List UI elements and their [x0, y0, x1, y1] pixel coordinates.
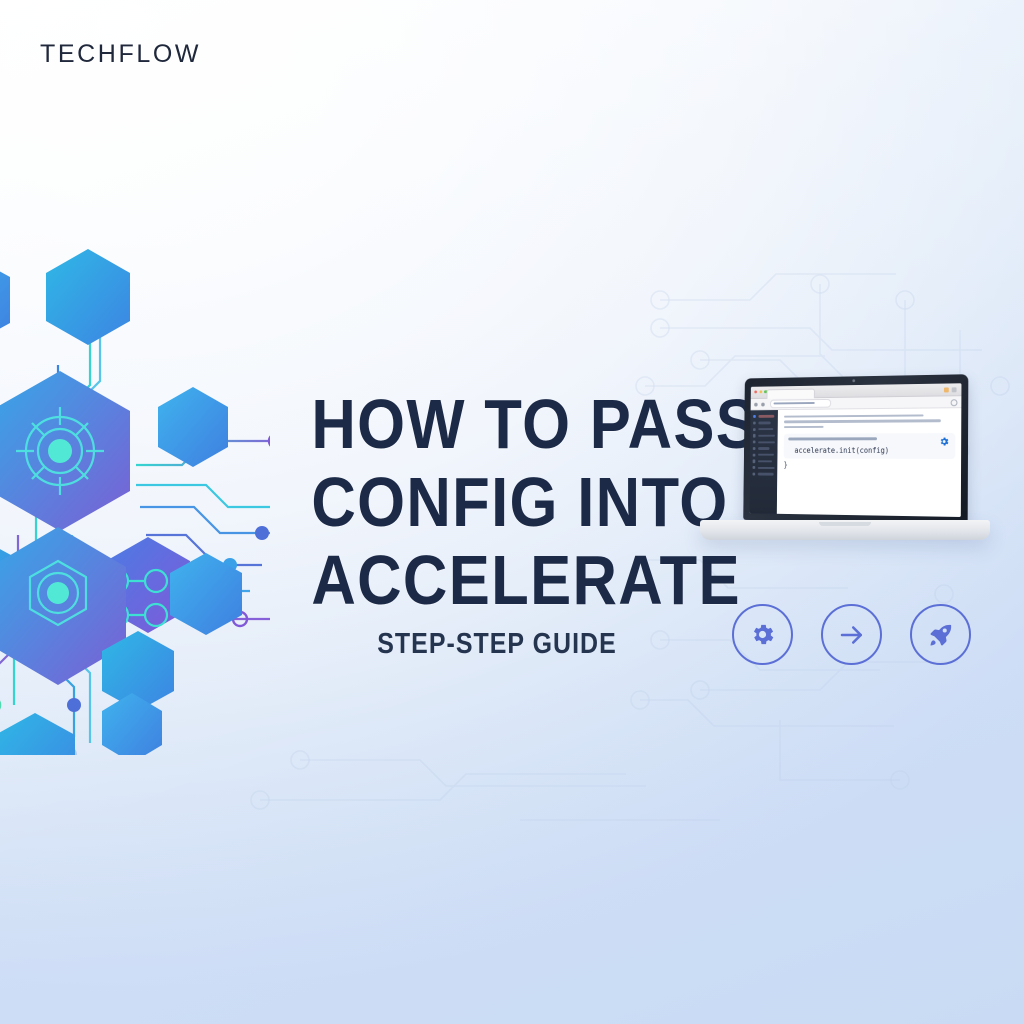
- browser-nav-buttons[interactable]: [754, 402, 765, 406]
- headline-line-3: ACCELERATE: [311, 541, 682, 619]
- sidebar-item-icon: [753, 434, 756, 437]
- content-line: [784, 426, 824, 429]
- sidebar-item[interactable]: [753, 447, 775, 450]
- sidebar-item[interactable]: [753, 428, 775, 431]
- code-line: accelerate.init(config): [788, 446, 950, 455]
- sidebar-item-label: [758, 467, 775, 469]
- sidebar-item-icon: [753, 421, 756, 424]
- code-block: accelerate.init(config): [784, 433, 956, 459]
- sidebar-item-icon: [753, 447, 756, 450]
- sidebar-item[interactable]: [753, 460, 775, 463]
- profile-icon[interactable]: [952, 387, 957, 392]
- laptop-mockup: accelerate.init(config) }: [700, 368, 990, 568]
- code-block-header: [788, 437, 877, 440]
- sidebar-item-icon: [753, 428, 756, 431]
- gear-icon: [749, 621, 776, 648]
- sidebar-item-label: [758, 422, 770, 424]
- arrow-right-icon-button[interactable]: [821, 604, 882, 665]
- sidebar-item-label: [757, 473, 773, 475]
- sidebar-item-label: [758, 454, 774, 456]
- traffic-lights: [754, 390, 767, 393]
- sidebar-item-icon: [753, 441, 756, 444]
- app-viewport: accelerate.init(config) }: [749, 408, 961, 517]
- browser-address-bar: [751, 396, 962, 410]
- laptop-notch: [819, 522, 871, 526]
- gear-icon[interactable]: [939, 436, 950, 447]
- close-icon[interactable]: [754, 390, 757, 393]
- laptop-screen: accelerate.init(config) }: [749, 383, 961, 517]
- headline-line-2: CONFIG INTO: [311, 463, 682, 541]
- laptop-base: [700, 520, 990, 540]
- app-sidebar: [749, 410, 777, 515]
- sidebar-item[interactable]: [753, 453, 775, 456]
- browser-settings-icon[interactable]: [951, 399, 958, 406]
- sidebar-item-icon: [753, 466, 756, 469]
- content-paragraph: [784, 414, 956, 428]
- sidebar-item-label: [758, 447, 769, 449]
- browser-toolbar-right: [944, 387, 957, 392]
- arrow-right-icon: [837, 620, 867, 650]
- subtitle: STEP-STEP GUIDE: [316, 628, 679, 661]
- sidebar-item[interactable]: [753, 415, 775, 418]
- app-content: accelerate.init(config) }: [777, 408, 962, 517]
- hexagon-circuit-decoration: [0, 235, 270, 755]
- headline-line-1: HOW TO PASS: [311, 385, 682, 463]
- sidebar-item[interactable]: [753, 441, 775, 444]
- poster-canvas: TECHFLOW HOW TO PASS CONFIG INTO ACCELER…: [0, 0, 1024, 1024]
- sidebar-item-label: [758, 415, 774, 417]
- sidebar-item-label: [758, 428, 773, 430]
- sidebar-item[interactable]: [753, 434, 775, 437]
- sidebar-item-icon: [753, 460, 756, 463]
- rocket-icon: [927, 621, 955, 649]
- browser-tab[interactable]: [767, 388, 815, 398]
- sidebar-item[interactable]: [752, 473, 774, 476]
- content-line: [784, 420, 941, 423]
- headline-block: HOW TO PASS CONFIG INTO ACCELERATE: [286, 385, 708, 619]
- sidebar-item-icon: [753, 453, 756, 456]
- webcam-icon: [852, 379, 855, 382]
- brand-logo: TECHFLOW: [40, 40, 201, 69]
- content-line: [784, 414, 923, 418]
- sidebar-item-label: [758, 460, 772, 462]
- rocket-icon-button[interactable]: [910, 604, 971, 665]
- forward-icon[interactable]: [761, 402, 765, 406]
- sidebar-item-label: [758, 441, 775, 443]
- extension-icon[interactable]: [944, 387, 949, 392]
- icon-row: [730, 604, 970, 664]
- back-icon[interactable]: [754, 402, 758, 406]
- minimize-icon[interactable]: [759, 390, 762, 393]
- gear-icon-button[interactable]: [732, 604, 793, 665]
- url-input[interactable]: [770, 399, 831, 408]
- laptop-lid: accelerate.init(config) }: [743, 374, 968, 524]
- sidebar-item[interactable]: [753, 466, 775, 469]
- code-closing-brace: }: [784, 461, 956, 471]
- sidebar-item-icon: [752, 473, 755, 476]
- sidebar-item-icon: [753, 415, 756, 418]
- sidebar-item-label: [758, 435, 775, 437]
- sidebar-item[interactable]: [753, 421, 775, 424]
